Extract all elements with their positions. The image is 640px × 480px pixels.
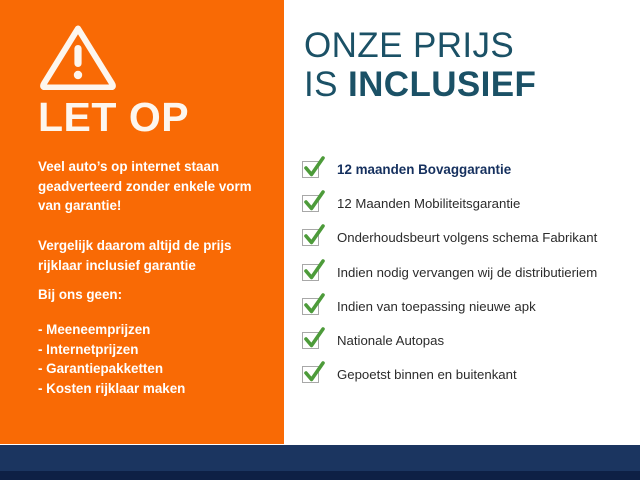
benefit-label: Nationale Autopas	[337, 333, 444, 349]
page-title: LET OP	[38, 95, 189, 139]
promo-banner: LET OP Veel auto’s op internet staan gea…	[0, 0, 640, 480]
warning-paragraph-2: Vergelijk daarom altijd de prijs rijklaa…	[38, 236, 270, 275]
check-icon	[302, 227, 324, 249]
warning-triangle-icon	[40, 24, 116, 90]
warning-paragraph-1: Veel auto’s op internet staan geadvertee…	[38, 157, 270, 216]
benefit-label: Indien nodig vervangen wij de distributi…	[337, 265, 597, 281]
headline-line-1: ONZE PRIJS	[304, 26, 536, 65]
benefit-label: 12 maanden Bovaggarantie	[337, 162, 511, 178]
benefit-label: 12 Maanden Mobiliteitsgarantie	[337, 196, 520, 212]
benefits-headline: ONZE PRIJS IS INCLUSIEF	[304, 26, 536, 104]
headline-emphasis: INCLUSIEF	[348, 65, 536, 104]
list-item: Indien nodig vervangen wij de distributi…	[302, 256, 640, 290]
headline-line-2: IS INCLUSIEF	[304, 65, 536, 104]
benefit-label: Onderhoudsbeurt volgens schema Fabrikant	[337, 230, 597, 246]
list-item: - Garantiepakketten	[38, 359, 274, 379]
list-item: Nationale Autopas	[302, 324, 640, 358]
benefit-label: Indien van toepassing nieuwe apk	[337, 299, 536, 315]
headline-prefix: IS	[304, 65, 348, 104]
list-item: - Kosten rijklaar maken	[38, 379, 274, 399]
exclusions-list: - Meeneemprijzen - Internetprijzen - Gar…	[38, 320, 274, 398]
check-icon	[302, 364, 324, 386]
benefits-panel: ONZE PRIJS IS INCLUSIEF 12 maanden Bovag…	[284, 0, 640, 444]
check-icon	[302, 262, 324, 284]
check-icon	[302, 330, 324, 352]
check-icon	[302, 193, 324, 215]
check-icon	[302, 296, 324, 318]
check-icon	[302, 159, 324, 181]
list-item: - Internetprijzen	[38, 340, 274, 360]
warning-panel: LET OP Veel auto’s op internet staan gea…	[0, 0, 284, 444]
list-item: Indien van toepassing nieuwe apk	[302, 290, 640, 324]
warning-paragraph-3: Bij ons geen:	[38, 285, 270, 305]
benefit-label: Gepoetst binnen en buitenkant	[337, 367, 517, 383]
footer-bar	[0, 445, 640, 471]
benefits-list: 12 maanden Bovaggarantie 12 Maanden Mobi…	[302, 153, 640, 392]
list-item: 12 Maanden Mobiliteitsgarantie	[302, 187, 640, 221]
list-item: - Meeneemprijzen	[38, 320, 274, 340]
list-item: 12 maanden Bovaggarantie	[302, 153, 640, 187]
list-item: Onderhoudsbeurt volgens schema Fabrikant	[302, 221, 640, 255]
list-item: Gepoetst binnen en buitenkant	[302, 358, 640, 392]
footer-bar-dark	[0, 471, 640, 480]
